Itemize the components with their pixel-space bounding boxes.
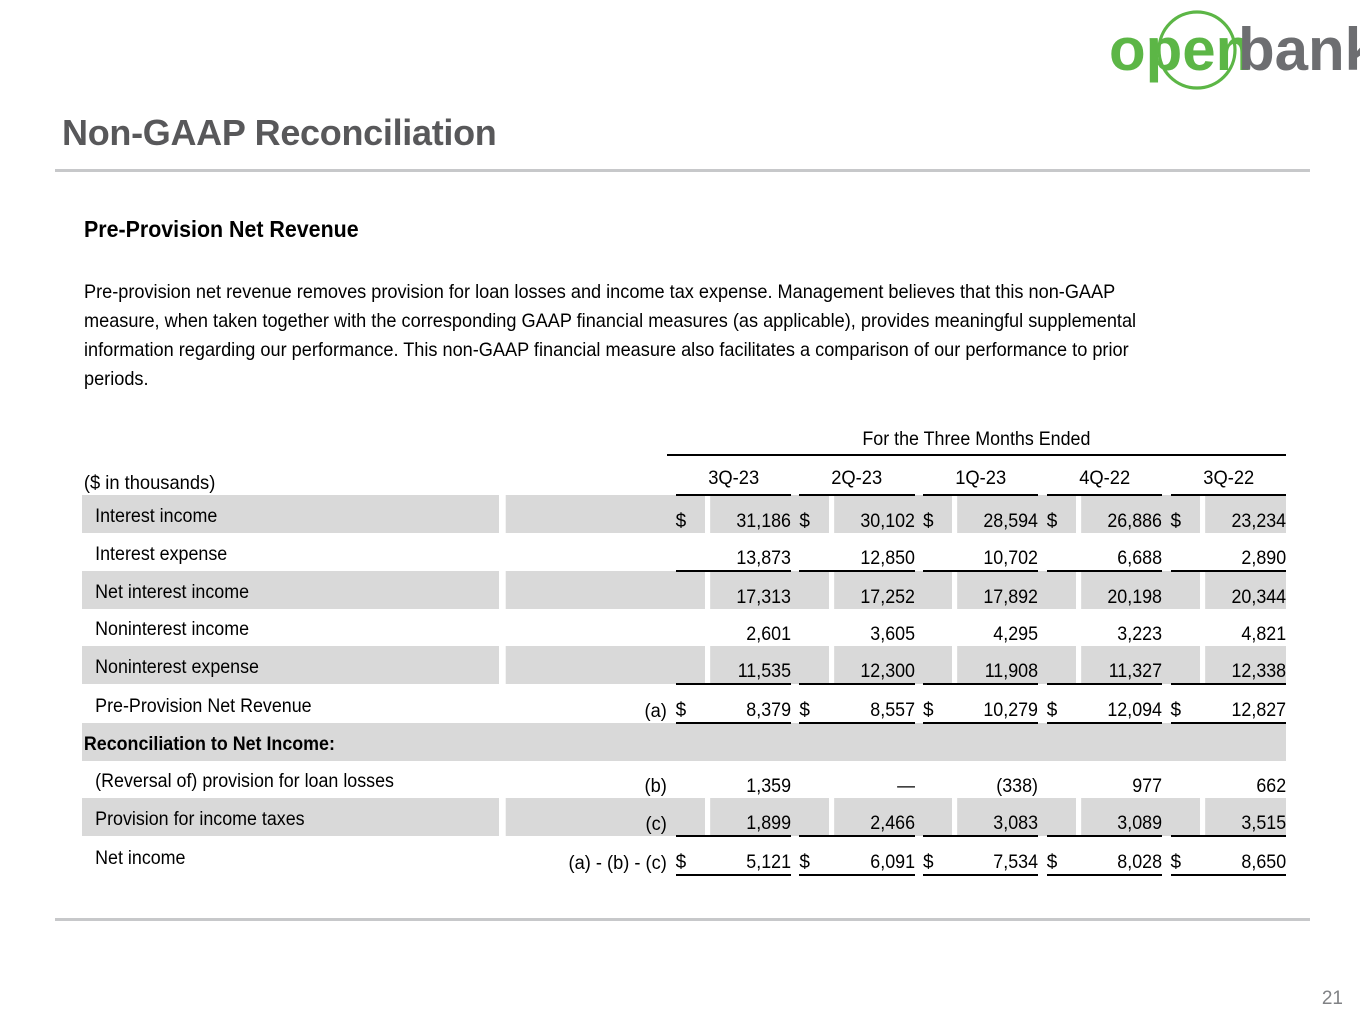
currency-spacer: [676, 533, 705, 571]
section-heading: Pre-Provision Net Revenue: [84, 216, 359, 243]
cell-value: 2,601: [710, 609, 791, 646]
spacer-cell: [667, 455, 675, 495]
currency-symbol: $: [676, 836, 705, 875]
currency-symbol: $: [799, 495, 828, 533]
currency-symbol: $: [923, 836, 952, 875]
units-label: ($ in thousands): [82, 472, 474, 495]
currency-symbol: $: [923, 495, 952, 533]
spacer-cell: [1162, 455, 1170, 495]
row-ref: [506, 533, 667, 571]
spacer-cell: [915, 495, 923, 533]
row-ref: (a): [506, 684, 667, 723]
cell-value: 30,102: [834, 495, 915, 533]
section-paragraph: Pre-provision net revenue removes provis…: [84, 278, 1181, 394]
row-ref: [506, 609, 667, 646]
spacer-cell: [791, 455, 799, 495]
currency-spacer: [1047, 609, 1076, 646]
row-label: Interest expense: [82, 539, 474, 571]
table-row: Interest expense 13,873 12,850 10,702 6,…: [82, 533, 1286, 571]
cell-value: 662: [1205, 761, 1286, 798]
units-cell: ($ in thousands): [82, 455, 499, 495]
cell-value: 26,886: [1081, 495, 1162, 533]
cell-value: 12,338: [1205, 646, 1286, 684]
openbank-logo: open bank: [1105, 8, 1360, 92]
currency-spacer: [799, 798, 828, 836]
currency-symbol: $: [799, 684, 828, 723]
spacer-cell: [1038, 798, 1046, 836]
currency-spacer: [676, 571, 705, 609]
spacer-cell: [791, 684, 799, 723]
table-column-header-row: ($ in thousands) 3Q-23 2Q-23 1Q-23 4Q-2: [82, 455, 1286, 495]
currency-spacer: [923, 571, 952, 609]
currency-symbol: $: [1047, 495, 1076, 533]
column-header-1: 2Q-23: [799, 455, 914, 495]
currency-symbol: $: [1047, 836, 1076, 875]
currency-spacer: [1171, 571, 1200, 609]
title-divider: [55, 169, 1310, 172]
cell-value: 8,650: [1205, 836, 1286, 875]
column-header-2: 1Q-23: [923, 455, 1038, 495]
currency-symbol: $: [676, 684, 705, 723]
table-row: Noninterest expense 11,535 12,300 11,908…: [82, 646, 1286, 684]
logo-bank-text: bank: [1238, 16, 1360, 83]
row-label-cell: Noninterest income: [82, 609, 499, 646]
spacer-cell: [1162, 761, 1170, 798]
currency-spacer: [1047, 761, 1076, 798]
cell-value: 8,557: [834, 684, 915, 723]
row-label: Provision for income taxes: [82, 804, 474, 836]
spacer-cell: [1162, 684, 1170, 723]
spacer-cell: [1038, 684, 1046, 723]
column-header-0: 3Q-23: [676, 455, 791, 495]
column-header-label: 3Q-22: [1174, 467, 1283, 494]
currency-spacer: [923, 798, 952, 836]
spacer-cell: [791, 761, 799, 798]
row-label: Noninterest income: [82, 614, 474, 646]
spacer-cell: [499, 420, 667, 455]
cell-value: 4,295: [958, 609, 1039, 646]
spacer-cell: [791, 495, 799, 533]
spacer-cell: [667, 761, 675, 798]
cell-value: 1,899: [710, 798, 791, 836]
row-label: Net income: [82, 843, 474, 875]
spacer-cell: [499, 455, 667, 495]
row-label-cell: Interest expense: [82, 533, 499, 571]
spacer-cell: [1038, 495, 1046, 533]
currency-spacer: [799, 533, 828, 571]
cell-value: 4,821: [1205, 609, 1286, 646]
currency-spacer: [923, 533, 952, 571]
spacer-cell: [667, 609, 675, 646]
currency-spacer: [923, 646, 952, 684]
currency-symbol: $: [1171, 495, 1200, 533]
cell-value: 17,252: [834, 571, 915, 609]
spacer-cell: [791, 646, 799, 684]
currency-spacer: [1171, 646, 1200, 684]
cell-value: 8,379: [710, 684, 791, 723]
row-label: Net interest income: [82, 577, 474, 609]
currency-spacer: [799, 609, 828, 646]
cell-value: 13,873: [710, 533, 791, 571]
spacer-cell: [82, 420, 499, 455]
row-ref: [506, 571, 667, 609]
row-label: Pre-Provision Net Revenue: [82, 691, 474, 723]
row-label: Interest income: [82, 501, 474, 533]
spacer-cell: [915, 609, 923, 646]
spacer-cell: [667, 571, 675, 609]
cell-value: 6,688: [1081, 533, 1162, 571]
row-ref: (a) - (b) - (c): [506, 836, 667, 875]
spacer-cell: [1162, 495, 1170, 533]
span-header-label: For the Three Months Ended: [686, 429, 1268, 454]
spacer-cell: [791, 533, 799, 571]
spacer-cell: [1162, 646, 1170, 684]
spacer-cell: [1038, 761, 1046, 798]
spacer-cell: [1038, 571, 1046, 609]
cell-value: 977: [1081, 761, 1162, 798]
spacer-cell: [1038, 609, 1046, 646]
cell-value: 31,186: [710, 495, 791, 533]
table-row: Interest income $ 31,186 $ 30,102 $ 28,5…: [82, 495, 1286, 533]
cell-value: 6,091: [834, 836, 915, 875]
cell-value: (338): [958, 761, 1039, 798]
span-header-cell: For the Three Months Ended: [667, 420, 1286, 455]
row-label-cell: Pre-Provision Net Revenue: [82, 684, 499, 723]
column-header-3: 4Q-22: [1047, 455, 1162, 495]
currency-spacer: [1171, 609, 1200, 646]
row-label-cell: (Reversal of) provision for loan losses: [82, 761, 499, 798]
spacer-cell: [1162, 533, 1170, 571]
column-header-label: 3Q-23: [679, 467, 787, 494]
cell-value: 11,535: [710, 646, 791, 684]
spacer-cell: [791, 836, 799, 875]
currency-spacer: [799, 646, 828, 684]
row-label: (Reversal of) provision for loan losses: [82, 766, 474, 798]
table-row: Noninterest income 2,601 3,605 4,295 3,2…: [82, 609, 1286, 646]
column-header-4: 3Q-22: [1171, 455, 1286, 495]
cell-value: 2,890: [1205, 533, 1286, 571]
table-row: Net income (a) - (b) - (c) $ 5,121 $ 6,0…: [82, 836, 1286, 875]
spacer-cell: [1162, 836, 1170, 875]
table-row: (Reversal of) provision for loan losses …: [82, 761, 1286, 798]
table-group-header-row: Reconciliation to Net Income:: [82, 723, 1286, 761]
cell-value: 12,300: [834, 646, 915, 684]
cell-value: 2,466: [834, 798, 915, 836]
column-header-label: 2Q-23: [803, 467, 911, 494]
cell-value: 10,702: [958, 533, 1039, 571]
cell-value: 17,892: [958, 571, 1039, 609]
row-label-cell: Noninterest expense: [82, 646, 499, 684]
spacer-cell: [791, 798, 799, 836]
column-header-label: 4Q-22: [1050, 467, 1158, 494]
currency-symbol: $: [799, 836, 828, 875]
cell-value: 28,594: [958, 495, 1039, 533]
spacer-cell: [667, 533, 675, 571]
group-header-cell: Reconciliation to Net Income:: [82, 723, 1286, 761]
spacer-cell: [667, 836, 675, 875]
row-ref: (c): [506, 798, 667, 836]
cell-value: 10,279: [958, 684, 1039, 723]
spacer-cell: [1038, 836, 1046, 875]
spacer-cell: [915, 798, 923, 836]
currency-spacer: [1171, 761, 1200, 798]
pre-provision-net-revenue-table: For the Three Months Ended ($ in thousan…: [82, 420, 1286, 876]
page-title: Non-GAAP Reconciliation: [62, 112, 496, 154]
spacer-cell: [915, 761, 923, 798]
spacer-cell: [915, 571, 923, 609]
row-ref: (b): [506, 761, 667, 798]
cell-value: 23,234: [1205, 495, 1286, 533]
currency-spacer: [676, 761, 705, 798]
cell-value: 3,083: [958, 798, 1039, 836]
page-number: 21: [1322, 988, 1343, 1010]
spacer-cell: [915, 684, 923, 723]
table-row: Provision for income taxes (c) 1,899 2,4…: [82, 798, 1286, 836]
row-label: Noninterest expense: [82, 652, 474, 684]
spacer-cell: [1038, 646, 1046, 684]
currency-spacer: [923, 761, 952, 798]
currency-spacer: [799, 571, 828, 609]
row-label-cell: Provision for income taxes: [82, 798, 499, 836]
row-ref: [506, 646, 667, 684]
openbank-logo-svg: open bank: [1105, 8, 1360, 92]
currency-spacer: [676, 798, 705, 836]
currency-spacer: [1171, 533, 1200, 571]
table-span-header-row: For the Three Months Ended: [82, 420, 1286, 455]
row-ref: [506, 495, 667, 533]
spacer-cell: [1162, 609, 1170, 646]
cell-value: 12,850: [834, 533, 915, 571]
spacer-cell: [1162, 798, 1170, 836]
cell-value: 11,908: [958, 646, 1039, 684]
row-label-cell: Net interest income: [82, 571, 499, 609]
currency-spacer: [923, 609, 952, 646]
bottom-divider: [55, 918, 1310, 921]
currency-spacer: [1047, 646, 1076, 684]
spacer-cell: [915, 533, 923, 571]
logo-open-text: open: [1109, 16, 1252, 83]
cell-value: 12,094: [1081, 684, 1162, 723]
currency-symbol: $: [923, 684, 952, 723]
cell-value: 12,827: [1205, 684, 1286, 723]
cell-value: 8,028: [1081, 836, 1162, 875]
cell-value: 17,313: [710, 571, 791, 609]
currency-spacer: [1047, 533, 1076, 571]
spacer-cell: [667, 684, 675, 723]
row-label-cell: Net income: [82, 836, 499, 875]
spacer-cell: [791, 571, 799, 609]
cell-value: —: [834, 761, 915, 798]
spacer-cell: [1038, 455, 1046, 495]
spacer-cell: [667, 646, 675, 684]
spacer-cell: [915, 455, 923, 495]
cell-value: 7,534: [958, 836, 1039, 875]
cell-value: 20,198: [1081, 571, 1162, 609]
currency-spacer: [1047, 571, 1076, 609]
currency-spacer: [1047, 798, 1076, 836]
row-label-cell: Interest income: [82, 495, 499, 533]
currency-spacer: [676, 609, 705, 646]
currency-symbol: $: [1047, 684, 1076, 723]
spacer-cell: [915, 836, 923, 875]
spacer-cell: [1038, 533, 1046, 571]
currency-symbol: $: [1171, 684, 1200, 723]
spacer-cell: [791, 609, 799, 646]
cell-value: 3,223: [1081, 609, 1162, 646]
currency-spacer: [799, 761, 828, 798]
cell-value: 20,344: [1205, 571, 1286, 609]
currency-symbol: $: [1171, 836, 1200, 875]
spacer-cell: [667, 798, 675, 836]
cell-value: 1,359: [710, 761, 791, 798]
group-header-label: Reconciliation to Net Income:: [82, 729, 1214, 761]
spacer-cell: [915, 646, 923, 684]
cell-value: 11,327: [1081, 646, 1162, 684]
cell-value: 3,089: [1081, 798, 1162, 836]
currency-spacer: [676, 646, 705, 684]
spacer-cell: [667, 495, 675, 533]
spacer-cell: [1162, 571, 1170, 609]
currency-spacer: [1171, 798, 1200, 836]
cell-value: 3,515: [1205, 798, 1286, 836]
currency-symbol: $: [676, 495, 705, 533]
cell-value: 5,121: [710, 836, 791, 875]
slide-canvas: open bank Non-GAAP Reconciliation Pre-Pr…: [0, 0, 1365, 1024]
table-row: Pre-Provision Net Revenue (a) $ 8,379 $ …: [82, 684, 1286, 723]
column-header-label: 1Q-23: [927, 467, 1035, 494]
table-row: Net interest income 17,313 17,252 17,892…: [82, 571, 1286, 609]
cell-value: 3,605: [834, 609, 915, 646]
